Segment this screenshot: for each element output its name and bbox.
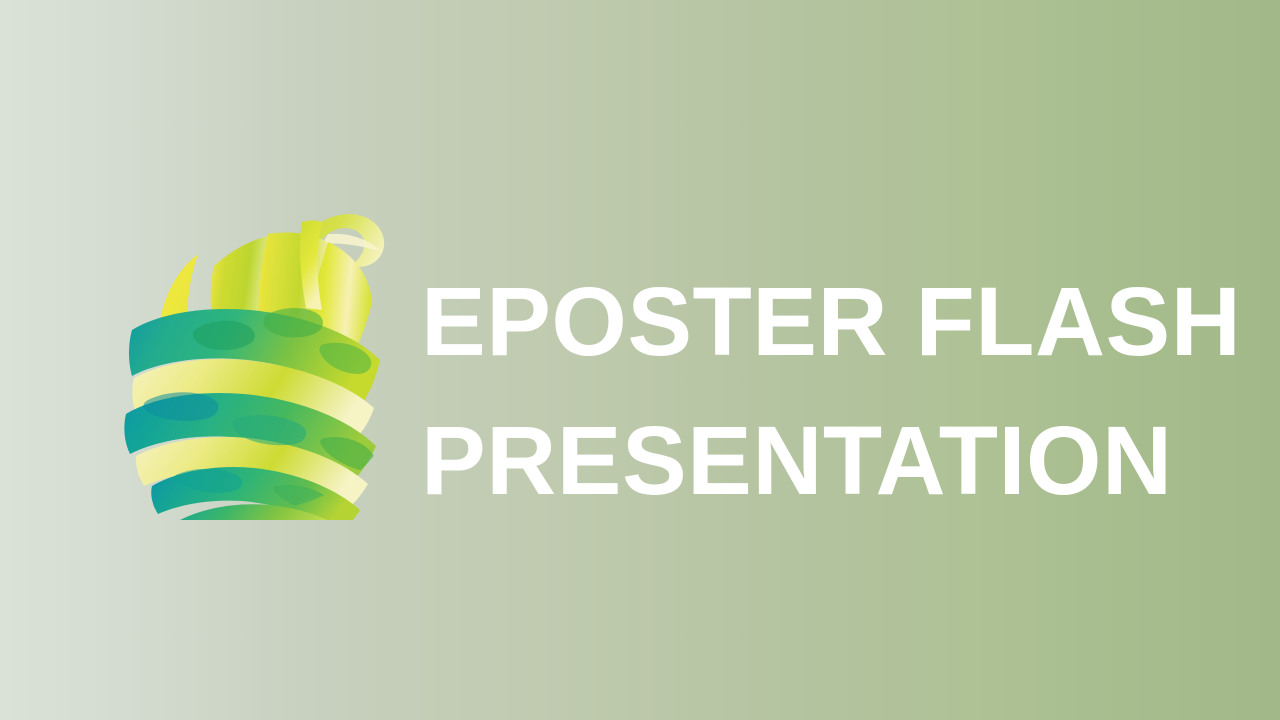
brand-logo — [118, 202, 408, 520]
slide-canvas: EPOSTER FLASH PRESENTATION — [0, 0, 1280, 720]
headline-line-2: PRESENTATION — [421, 391, 1221, 530]
headline-line-1: EPOSTER FLASH — [421, 252, 1221, 391]
page-title: EPOSTER FLASH PRESENTATION — [421, 252, 1221, 530]
